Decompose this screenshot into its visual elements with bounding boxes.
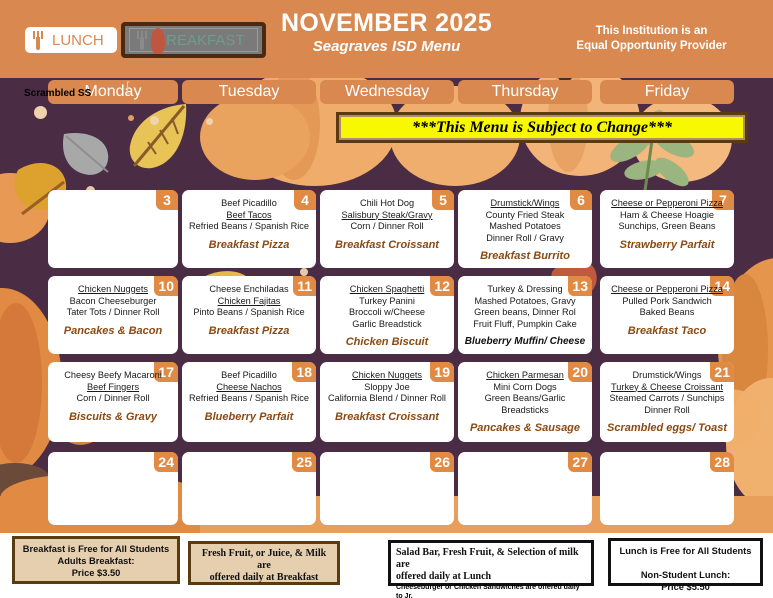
calendar-day-cell-3[interactable]: 3 <box>48 190 178 268</box>
lunch-item: Corn / Dinner Roll <box>51 393 175 405</box>
note-fine-print: Cheeseburger or Chicken Sandwiches are o… <box>396 583 586 598</box>
lunch-item: Baked Beans <box>603 307 731 319</box>
lunch-item: Tater Tots / Dinner Roll <box>51 307 175 319</box>
tab-lunch-label: LUNCH <box>48 32 114 49</box>
scrambled-overlay-text: Scrambled SS <box>24 88 91 99</box>
calendar-day-cell-13[interactable]: 13Turkey & DressingMashed Potatoes, Grav… <box>458 276 592 354</box>
lunch-item: Cheese Nachos <box>185 382 313 394</box>
lunch-item: Beef Picadillo <box>185 198 313 210</box>
day-menu-4: Beef PicadilloBeef TacosRefried Beans / … <box>185 198 313 251</box>
day-menu-17: Cheesy Beefy MacaroniBeef FingersCorn / … <box>51 370 175 423</box>
day-number-24: 24 <box>154 452 178 472</box>
calendar-day-cell-5[interactable]: 5Chili Hot DogSalisbury Steak/GravyCorn … <box>320 190 454 268</box>
weekday-header-friday: Friday <box>600 80 734 104</box>
breakfast-item-7: Strawberry Parfait <box>603 239 731 251</box>
breakfast-item-18: Blueberry Parfait <box>185 411 313 423</box>
lunch-item: Ham & Cheese Hoagie <box>603 210 731 222</box>
weekday-header-wednesday: Wednesday <box>320 80 454 104</box>
day-menu-11: Cheese EnchiladasChicken FajitasPinto Be… <box>185 284 313 337</box>
day-menu-7: Cheese or Pepperoni PizzaHam & Cheese Ho… <box>603 198 731 251</box>
menu-calendar-page: NOVEMBER 2025 Seagraves ISD Menu This In… <box>0 0 773 598</box>
subject-to-change-text: ***This Menu is Subject to Change*** <box>412 119 672 137</box>
lunch-item: Chicken Parmesan <box>461 370 589 382</box>
day-menu-18: Beef PicadilloCheese NachosRefried Beans… <box>185 370 313 423</box>
lunch-item: Turkey & Dressing <box>461 284 589 296</box>
day-menu-21: Drumstick/WingsTurkey & Cheese Croissant… <box>603 370 731 434</box>
lunch-item: Cheese or Pepperoni Pizza <box>603 198 731 210</box>
calendar-day-cell-11[interactable]: 11Cheese EnchiladasChicken FajitasPinto … <box>182 276 316 354</box>
lunch-item: Salisbury Steak/Gravy <box>323 210 451 222</box>
day-number-25: 25 <box>292 452 316 472</box>
note-line <box>616 557 755 569</box>
day-menu-14: Cheese or Pepperoni PizzaPulled Pork San… <box>603 284 731 337</box>
lunch-items-5: Chili Hot DogSalisbury Steak/GravyCorn /… <box>323 198 451 233</box>
breakfast-item-14: Breakfast Taco <box>603 325 731 337</box>
tab-breakfast-label: BREAKFAST <box>152 32 254 49</box>
lunch-items-4: Beef PicadilloBeef TacosRefried Beans / … <box>185 198 313 233</box>
lunch-item: Mashed Potatoes <box>461 221 589 233</box>
lunch-items-11: Cheese EnchiladasChicken FajitasPinto Be… <box>185 284 313 319</box>
day-menu-19: Chicken NuggetsSloppy JoeCalifornia Blen… <box>323 370 451 423</box>
dot-decoration <box>150 116 159 125</box>
eop-line-2: Equal Opportunity Provider <box>544 39 759 54</box>
lunch-items-20: Chicken ParmesanMini Corn DogsGreen Bean… <box>461 370 589 416</box>
lunch-item: Broccoli w/Cheese <box>323 307 451 319</box>
fork-icon <box>134 29 150 51</box>
calendar-day-cell-14[interactable]: 14Cheese or Pepperoni PizzaPulled Pork S… <box>600 276 734 354</box>
calendar-day-cell-27[interactable]: 27 <box>458 452 592 525</box>
lunch-items-6: Drumstick/WingsCounty Fried SteakMashed … <box>461 198 589 244</box>
lunch-items-7: Cheese or Pepperoni PizzaHam & Cheese Ho… <box>603 198 731 233</box>
note-line: Salad Bar, Fresh Fruit, & Selection of m… <box>396 547 586 571</box>
day-menu-13: Turkey & DressingMashed Potatoes, GravyG… <box>461 284 589 347</box>
lunch-item: Fruit Fluff, Pumpkin Cake <box>461 319 589 331</box>
lunch-item: Cheesy Beefy Macaroni <box>51 370 175 382</box>
breakfast-price-note: Breakfast is Free for All StudentsAdults… <box>12 536 180 584</box>
lunch-price-note: Lunch is Free for All Students Non-Stude… <box>608 538 763 586</box>
lunch-item: Mini Corn Dogs <box>461 382 589 394</box>
calendar-day-cell-10[interactable]: 10Chicken NuggetsBacon CheeseburgerTater… <box>48 276 178 354</box>
note-line: Lunch is Free for All Students <box>616 545 755 557</box>
calendar-day-cell-24[interactable]: 24 <box>48 452 178 525</box>
lunch-item: Bacon Cheeseburger <box>51 296 175 308</box>
calendar-day-cell-4[interactable]: 4Beef PicadilloBeef TacosRefried Beans /… <box>182 190 316 268</box>
lunch-items-18: Beef PicadilloCheese NachosRefried Beans… <box>185 370 313 405</box>
lunch-item: Chicken Fajitas <box>185 296 313 308</box>
lunch-item: Sunchips, Green Beans <box>603 221 731 233</box>
lunch-item: Beef Picadillo <box>185 370 313 382</box>
lunch-item: Pinto Beans / Spanish Rice <box>185 307 313 319</box>
lunch-items-14: Cheese or Pepperoni PizzaPulled Pork San… <box>603 284 731 319</box>
note-line: Non-Student Lunch: <box>616 569 755 581</box>
breakfast-item-19: Breakfast Croissant <box>323 411 451 423</box>
calendar-day-cell-25[interactable]: 25 <box>182 452 316 525</box>
breakfast-item-5: Breakfast Croissant <box>323 239 451 251</box>
tab-lunch[interactable]: LUNCH <box>25 27 117 53</box>
calendar-day-cell-6[interactable]: 6Drumstick/WingsCounty Fried SteakMashed… <box>458 190 592 268</box>
lunch-item: Steamed Carrots / Sunchips <box>603 393 731 405</box>
calendar-day-cell-19[interactable]: 19Chicken NuggetsSloppy JoeCalifornia Bl… <box>320 362 454 442</box>
day-menu-12: Chicken SpaghettiTurkey PaniniBroccoli w… <box>323 284 451 348</box>
lunch-item: California Blend / Dinner Roll <box>323 393 451 405</box>
breakfast-item-11: Breakfast Pizza <box>185 325 313 337</box>
lunch-item: Chicken Spaghetti <box>323 284 451 296</box>
lunch-item: Refried Beans / Spanish Rice <box>185 221 313 233</box>
leaf-icon <box>151 28 165 54</box>
breakfast-item-13: Blueberry Muffin/ Cheese <box>461 336 589 347</box>
tab-breakfast[interactable]: BREAKFAST <box>121 22 265 58</box>
day-menu-5: Chili Hot DogSalisbury Steak/GravyCorn /… <box>323 198 451 251</box>
breakfast-item-6: Breakfast Burrito <box>461 250 589 262</box>
breakfast-item-20: Pancakes & Sausage <box>461 422 589 434</box>
lunch-item: Pulled Pork Sandwich <box>603 296 731 308</box>
calendar-day-cell-12[interactable]: 12Chicken SpaghettiTurkey PaniniBroccoli… <box>320 276 454 354</box>
breakfast-daily-note: Fresh Fruit, or Juice, & Milk areoffered… <box>188 541 340 585</box>
lunch-item: Green beans, Dinner Rol <box>461 307 589 319</box>
stray-bracket-text: [ <box>126 79 130 94</box>
lunch-item: Refried Beans / Spanish Rice <box>185 393 313 405</box>
breakfast-item-12: Chicken Biscuit <box>323 336 451 348</box>
fork-icon <box>30 29 46 51</box>
note-line: Breakfast is Free for All Students <box>20 543 172 555</box>
dot-decoration <box>34 106 47 119</box>
lunch-daily-note: Salad Bar, Fresh Fruit, & Selection of m… <box>388 540 594 586</box>
eop-line-1: This Institution is an <box>544 24 759 39</box>
calendar-day-cell-26[interactable]: 26 <box>320 452 454 525</box>
calendar-day-cell-28[interactable]: 28 <box>600 452 734 525</box>
dot-decoration <box>300 268 308 276</box>
calendar-day-cell-21[interactable]: 21Drumstick/WingsTurkey & Cheese Croissa… <box>600 362 734 442</box>
day-number-28: 28 <box>710 452 734 472</box>
lunch-items-19: Chicken NuggetsSloppy JoeCalifornia Blen… <box>323 370 451 405</box>
lunch-item: Turkey Panini <box>323 296 451 308</box>
lunch-item: Cheese Enchiladas <box>185 284 313 296</box>
lunch-item: Drumstick/Wings <box>603 370 731 382</box>
lunch-item: Dinner Roll / Gravy <box>461 233 589 245</box>
lunch-item: County Fried Steak <box>461 210 589 222</box>
dot-decoration <box>128 115 134 121</box>
note-line: offered daily at Lunch <box>396 571 586 583</box>
day-number-26: 26 <box>430 452 454 472</box>
day-menu-6: Drumstick/WingsCounty Fried SteakMashed … <box>461 198 589 262</box>
day-menu-10: Chicken NuggetsBacon CheeseburgerTater T… <box>51 284 175 337</box>
dot-decoration <box>206 118 213 125</box>
lunch-items-10: Chicken NuggetsBacon CheeseburgerTater T… <box>51 284 175 319</box>
breakfast-item-21: Scrambled eggs/ Toast <box>603 422 731 434</box>
lunch-item: Green Beans/Garlic Breadsticks <box>461 393 589 416</box>
lunch-items-12: Chicken SpaghettiTurkey PaniniBroccoli w… <box>323 284 451 330</box>
lunch-item: Mashed Potatoes, Gravy <box>461 296 589 308</box>
lunch-item: Chicken Nuggets <box>323 370 451 382</box>
day-number-3: 3 <box>156 190 178 210</box>
lunch-items-17: Cheesy Beefy MacaroniBeef FingersCorn / … <box>51 370 175 405</box>
weekday-header-row: MondayTuesdayWednesdayThursdayFriday <box>0 78 773 106</box>
breakfast-item-17: Biscuits & Gravy <box>51 411 175 423</box>
subject-to-change-banner: ***This Menu is Subject to Change*** <box>336 112 748 143</box>
calendar-day-cell-18[interactable]: 18Beef PicadilloCheese NachosRefried Bea… <box>182 362 316 442</box>
breakfast-item-4: Breakfast Pizza <box>185 239 313 251</box>
equal-opportunity-notice: This Institution is an Equal Opportunity… <box>544 24 759 54</box>
lunch-item: Turkey & Cheese Croissant <box>603 382 731 394</box>
breakfast-item-10: Pancakes & Bacon <box>51 325 175 337</box>
calendar-day-cell-7[interactable]: 7Cheese or Pepperoni PizzaHam & Cheese H… <box>600 190 734 268</box>
lunch-item: Dinner Roll <box>603 405 731 417</box>
lunch-item: Corn / Dinner Roll <box>323 221 451 233</box>
pumpkin-decoration <box>200 94 310 180</box>
lunch-item: Sloppy Joe <box>323 382 451 394</box>
calendar-day-cell-17[interactable]: 17Cheesy Beefy MacaroniBeef FingersCorn … <box>48 362 178 442</box>
note-line: offered daily at Breakfast <box>196 572 332 584</box>
note-line: Price $5.50 <box>616 581 755 593</box>
lunch-items-13: Turkey & DressingMashed Potatoes, GravyG… <box>461 284 589 330</box>
note-line: Fresh Fruit, or Juice, & Milk are <box>196 548 332 572</box>
meal-type-tabs[interactable]: LUNCH BREAKFAST <box>25 20 266 58</box>
lunch-item: Chicken Nuggets <box>51 284 175 296</box>
lunch-item: Beef Fingers <box>51 382 175 394</box>
weekday-header-tuesday: Tuesday <box>182 80 316 104</box>
weekday-header-thursday: Thursday <box>458 80 592 104</box>
lunch-item: Drumstick/Wings <box>461 198 589 210</box>
day-number-27: 27 <box>568 452 592 472</box>
calendar-day-cell-20[interactable]: 20Chicken ParmesanMini Corn DogsGreen Be… <box>458 362 592 442</box>
lunch-item: Beef Tacos <box>185 210 313 222</box>
note-line: Price $3.50 <box>20 567 172 579</box>
lunch-items-21: Drumstick/WingsTurkey & Cheese Croissant… <box>603 370 731 416</box>
day-menu-20: Chicken ParmesanMini Corn DogsGreen Bean… <box>461 370 589 434</box>
note-line: Adults Breakfast: <box>20 555 172 567</box>
lunch-item: Garlic Breadstick <box>323 319 451 331</box>
lunch-item: Chili Hot Dog <box>323 198 451 210</box>
lunch-item: Cheese or Pepperoni Pizza <box>603 284 731 296</box>
